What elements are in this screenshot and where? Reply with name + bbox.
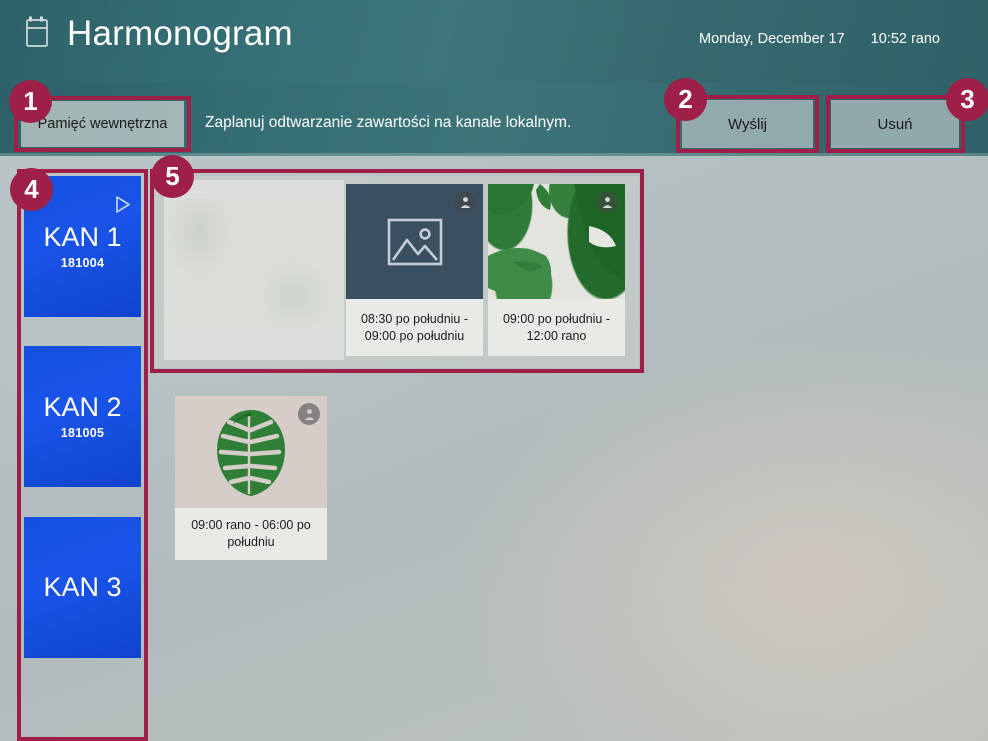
channel-name: KAN 2 — [43, 393, 121, 421]
schedule-hint-text: Wybierz, aby edytować ten harmonogram — [164, 180, 344, 198]
schedule-card-caption: 09:00 po południu - 12:00 rano — [488, 299, 625, 356]
schedule-card-thumb — [175, 396, 327, 508]
schedule-app-window: Harmonogram Monday, December 17 10:52 ra… — [0, 0, 988, 741]
header-title-group: Harmonogram — [26, 16, 293, 51]
send-button[interactable]: Wyślij — [682, 100, 813, 148]
delete-button[interactable]: Usuń — [831, 100, 959, 148]
schedule-card-caption: 08:30 po południu - 09:00 po południu — [346, 299, 483, 356]
channel-id: 181004 — [61, 256, 105, 270]
user-badge-icon — [298, 403, 320, 425]
image-placeholder-icon — [387, 218, 443, 266]
header-time: 10:52 rano — [871, 31, 940, 47]
play-icon — [113, 194, 132, 215]
person-glyph-icon — [459, 196, 472, 209]
header-datetime: Monday, December 17 10:52 rano — [699, 31, 940, 47]
hint-card-thumb — [164, 198, 344, 334]
channel-name: KAN 3 — [43, 573, 121, 601]
storage-source-button[interactable]: Pamięć wewnętrzna — [21, 101, 184, 147]
schedule-card-caption: 09:00 rano - 06:00 po południu — [175, 508, 327, 560]
toolbar-description: Zaplanuj odtwarzanie zawartości na kanal… — [205, 114, 571, 132]
channel-list: KAN 1 181004 KAN 2 181005 KAN 3 — [24, 176, 141, 741]
channel-id: 181005 — [61, 426, 105, 440]
person-glyph-icon — [601, 196, 614, 209]
person-glyph-icon — [303, 408, 316, 421]
sidebar-item-kan-2[interactable]: KAN 2 181005 — [24, 346, 141, 487]
user-badge-icon — [596, 191, 618, 213]
sidebar-item-kan-3[interactable]: KAN 3 — [24, 517, 141, 658]
schedule-hint-card[interactable]: Wybierz, aby edytować ten harmonogram — [164, 180, 344, 360]
app-header: Harmonogram Monday, December 17 10:52 ra… — [0, 0, 988, 83]
sidebar-item-kan-1[interactable]: KAN 1 181004 — [24, 176, 141, 317]
header-date: Monday, December 17 — [699, 31, 845, 47]
schedule-panel: Wybierz, aby edytować ten harmonogram 08 — [155, 176, 639, 368]
channel-name: KAN 1 — [43, 223, 121, 251]
page-title: Harmonogram — [67, 16, 293, 51]
calendar-icon — [26, 16, 53, 51]
schedule-card[interactable]: 08:30 po południu - 09:00 po południu — [346, 184, 483, 356]
schedule-card-thumb — [488, 184, 625, 299]
schedule-card-thumb — [346, 184, 483, 299]
schedule-card-solo[interactable]: 09:00 rano - 06:00 po południu — [175, 396, 327, 560]
user-badge-icon — [454, 191, 476, 213]
schedule-card[interactable]: 09:00 po południu - 12:00 rano — [488, 184, 625, 356]
